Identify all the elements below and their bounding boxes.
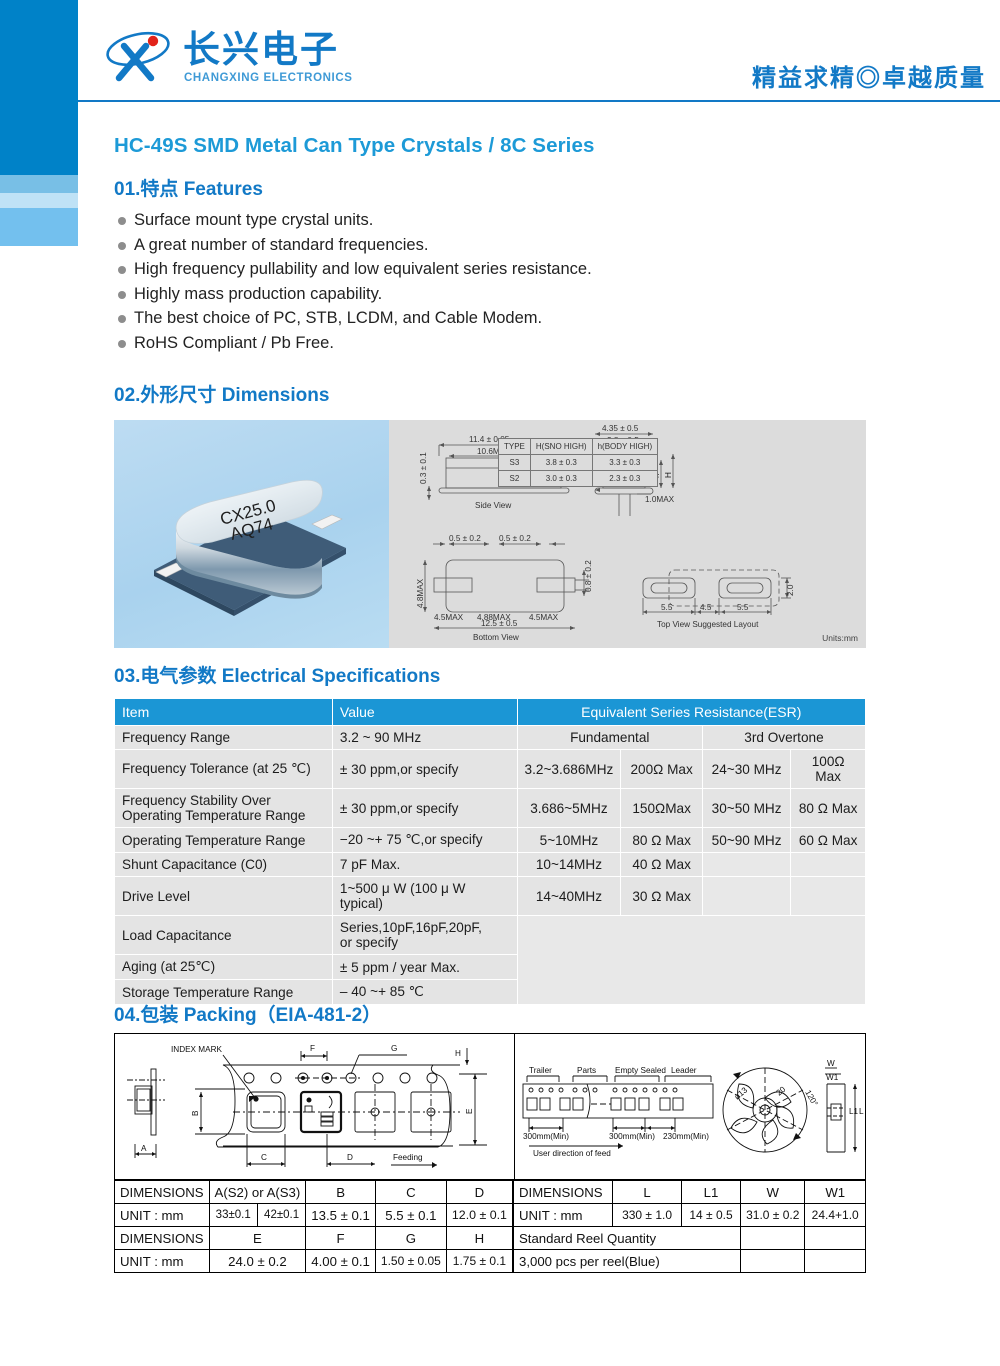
- svg-text:2.0: 2.0: [786, 584, 795, 596]
- svg-text:W1: W1: [826, 1073, 839, 1082]
- spec-item: Frequency Range: [115, 726, 333, 750]
- esr-empty-cell: [702, 877, 790, 916]
- svg-text:Trailer: Trailer: [529, 1066, 552, 1075]
- pk-l-col-g: G: [375, 1227, 446, 1250]
- table-row: UNIT : mm 330 ± 1.0 14 ± 0.5 31.0 ± 0.2 …: [514, 1204, 866, 1227]
- section-heading-electrical: 03.电气参数 Electrical Specifications: [114, 661, 440, 688]
- svg-text:Feeding: Feeding: [393, 1153, 423, 1162]
- col-header-value: Value: [332, 699, 517, 726]
- packing-tape-dimensions-table: DIMENSIONS A(S2) or A(S3) B C D UNIT : m…: [114, 1180, 513, 1273]
- spec-value: Series,10pF,16pF,20pF, or specify: [332, 916, 517, 955]
- table-row: Standard Reel Quantity: [514, 1227, 866, 1250]
- pk-l-val-h: 1.75 ± 0.1: [446, 1250, 512, 1273]
- list-item: Highly mass production capability.: [117, 282, 817, 307]
- pk-l-dimensions-label: DIMENSIONS: [115, 1181, 210, 1204]
- svg-text:E: E: [465, 1108, 474, 1114]
- spec-item: Frequency Tolerance (at 25 ℃): [115, 750, 333, 789]
- crystal-3d-illustration: CX25.0 AQ74: [114, 420, 389, 648]
- esr-ot-res: 100Ω Max: [791, 750, 866, 789]
- type-th-2: h(BODY HIGH): [592, 439, 658, 455]
- esr-empty-cell: [791, 853, 866, 877]
- spec-value: 1~500 μ W (100 μ W typical): [332, 877, 517, 916]
- svg-text:0.5 ± 0.2: 0.5 ± 0.2: [449, 534, 481, 543]
- pk-l-val-e: 24.0 ± 0.2: [209, 1250, 306, 1273]
- svg-text:5.5: 5.5: [737, 603, 749, 612]
- company-name-en: CHANGXING ELECTRONICS: [184, 72, 353, 84]
- sidebar-band-light: [0, 193, 78, 208]
- col-header-item: Item: [115, 699, 333, 726]
- esr-ot-res: 80 Ω Max: [791, 789, 866, 828]
- svg-text:H: H: [664, 472, 673, 478]
- esr-fund-res: 150ΩMax: [621, 789, 703, 828]
- pk-r-empty-3: [741, 1250, 805, 1273]
- type-height-table: TYPE H(SNO HIGH) h(BODY HIGH) S3 3.8 ± 0…: [498, 438, 658, 487]
- pk-l-unit-label: UNIT : mm: [115, 1204, 210, 1227]
- svg-text:300mm(Min): 300mm(Min): [523, 1132, 569, 1141]
- page-header: 长兴电子 CHANGXING ELECTRONICS 精益求精◎卓越质量: [78, 0, 1000, 100]
- list-item: Surface mount type crystal units.: [117, 208, 817, 233]
- table-row: Frequency Range 3.2 ~ 90 MHz Fundamental…: [115, 726, 866, 750]
- sidebar-band-medium: [0, 175, 78, 193]
- table-row: DIMENSIONS A(S2) or A(S3) B C D: [115, 1181, 513, 1204]
- list-item: High frequency pullability and low equiv…: [117, 257, 817, 282]
- esr-fund-res: 30 Ω Max: [621, 877, 703, 916]
- list-item: A great number of standard frequencies.: [117, 233, 817, 258]
- page-title: HC-49S SMD Metal Can Type Crystals / 8C …: [114, 134, 594, 158]
- pk-r-reel-qty-label: Standard Reel Quantity: [514, 1227, 741, 1250]
- esr-fund-res: 40 Ω Max: [621, 853, 703, 877]
- index-mark-label: INDEX MARK: [171, 1045, 222, 1054]
- section-heading-dimensions: 02.外形尺寸 Dimensions: [114, 380, 329, 407]
- pk-l-val-c: 5.5 ± 0.1: [375, 1204, 446, 1227]
- pk-l-col-e: E: [209, 1227, 306, 1250]
- svg-text:300mm(Min): 300mm(Min): [609, 1132, 655, 1141]
- svg-text:4.5: 4.5: [700, 603, 712, 612]
- table-row: DIMENSIONS L L1 W W1: [514, 1181, 866, 1204]
- svg-text:A: A: [141, 1144, 147, 1153]
- features-list: Surface mount type crystal units. A grea…: [117, 208, 817, 356]
- esr-fund-freq: 14~40MHz: [517, 877, 621, 916]
- pk-r-val-w: 31.0 ± 0.2: [741, 1204, 805, 1227]
- packing-reel-dimensions-table: DIMENSIONS L L1 W W1 UNIT : mm 330 ± 1.0…: [513, 1180, 866, 1273]
- svg-text:0.3 ± 0.1: 0.3 ± 0.1: [419, 452, 428, 484]
- list-item: The best choice of PC, STB, LCDM, and Ca…: [117, 306, 817, 331]
- svg-text:B: B: [191, 1110, 200, 1116]
- spec-item: Aging (at 25℃): [115, 955, 333, 980]
- svg-text:D: D: [347, 1153, 353, 1162]
- pk-r-val-w1: 24.4+1.0: [805, 1204, 866, 1227]
- spec-value: ± 5 ppm / year Max.: [332, 955, 517, 980]
- pk-l-val-d: 12.0 ± 0.1: [446, 1204, 512, 1227]
- esr-fund-freq: 3.2~3.686MHz: [517, 750, 621, 789]
- esr-fund-freq: 3.686~5MHz: [517, 789, 621, 828]
- company-logo: 长兴电子 CHANGXING ELECTRONICS: [105, 28, 365, 90]
- esr-ot-freq: 50~90 MHz: [702, 828, 790, 853]
- units-note: Units:mm: [822, 633, 858, 643]
- spec-value: −20 ~+ 75 ℃,or specify: [332, 828, 517, 853]
- pk-l-val-g: 1.50 ± 0.05: [375, 1250, 446, 1273]
- col-header-esr: Equivalent Series Resistance(ESR): [517, 699, 865, 726]
- table-header-row: Item Value Equivalent Series Resistance(…: [115, 699, 866, 726]
- svg-text:H: H: [455, 1049, 461, 1058]
- pk-l-val-b: 13.5 ± 0.1: [306, 1204, 376, 1227]
- pk-l-col-a: A(S2) or A(S3): [209, 1181, 306, 1204]
- spec-value: ± 30 ppm,or specify: [332, 789, 517, 828]
- table-row: UNIT : mm 33±0.1 42±0.1 13.5 ± 0.1 5.5 ±…: [115, 1204, 513, 1227]
- table-row: DIMENSIONS E F G H: [115, 1227, 513, 1250]
- pk-r-val-l: 330 ± 1.0: [613, 1204, 682, 1227]
- svg-text:Side View: Side View: [475, 501, 511, 510]
- pk-l-col-c: C: [375, 1181, 446, 1204]
- svg-text:Parts: Parts: [577, 1066, 596, 1075]
- svg-text:230mm(Min): 230mm(Min): [663, 1132, 709, 1141]
- esr-subheader-fundamental: Fundamental: [517, 726, 702, 750]
- header-divider: [78, 100, 1000, 102]
- sidebar-band-medium-light: [0, 208, 78, 246]
- list-item: RoHS Compliant / Pb Free.: [117, 331, 817, 356]
- spec-item: Drive Level: [115, 877, 333, 916]
- svg-text:0.5 ± 0.2: 0.5 ± 0.2: [499, 534, 531, 543]
- svg-text:4.35 ± 0.5: 4.35 ± 0.5: [602, 424, 639, 433]
- pk-l-col-f: F: [306, 1227, 376, 1250]
- svg-text:Leader: Leader: [671, 1066, 697, 1075]
- pk-r-col-l1: L1: [681, 1181, 740, 1204]
- esr-empty-cell: [702, 853, 790, 877]
- svg-text:4.8MAX: 4.8MAX: [416, 578, 425, 608]
- svg-text:4.5MAX: 4.5MAX: [434, 613, 464, 622]
- electrical-specifications-table: Item Value Equivalent Series Resistance(…: [114, 698, 866, 1005]
- dimensions-figure: CX25.0 AQ74 11.4 ± 0.05: [114, 420, 866, 648]
- pk-l-val-a-s3: 42±0.1: [257, 1204, 305, 1227]
- table-row: UNIT : mm 24.0 ± 0.2 4.00 ± 0.1 1.50 ± 0…: [115, 1250, 513, 1273]
- svg-text:5.5: 5.5: [661, 603, 673, 612]
- svg-text:F: F: [310, 1044, 315, 1053]
- company-name-cn: 长兴电子: [183, 28, 339, 72]
- table-row: Load Capacitance Series,10pF,16pF,20pF, …: [115, 916, 866, 955]
- table-row: Frequency Tolerance (at 25 ℃) ± 30 ppm,o…: [115, 750, 866, 789]
- section-heading-features: 01.特点 Features: [114, 174, 263, 201]
- esr-fund-res: 80 Ω Max: [621, 828, 703, 853]
- spec-value: ± 30 ppm,or specify: [332, 750, 517, 789]
- pk-r-empty-2: [805, 1227, 866, 1250]
- table-row: S2 3.0 ± 0.3 2.3 ± 0.3: [499, 471, 658, 487]
- top-view-layout-drawing: 2.0 5.5 4.5 5.5: [643, 570, 795, 629]
- spec-value: 7 pF Max.: [332, 853, 517, 877]
- pk-l-val-a-s2: 33±0.1: [209, 1204, 257, 1227]
- svg-text:Bottom View: Bottom View: [473, 633, 519, 642]
- pk-l-col-h: H: [446, 1227, 512, 1250]
- spec-item: Operating Temperature Range: [115, 828, 333, 853]
- svg-text:ø13: ø13: [733, 1085, 750, 1101]
- esr-ot-res: 60 Ω Max: [791, 828, 866, 853]
- esr-fund-res: 200Ω Max: [621, 750, 703, 789]
- esr-ot-freq: 24~30 MHz: [702, 750, 790, 789]
- spec-item: Shunt Capacitance (C0): [115, 853, 333, 877]
- svg-text:12.5 ± 0.5: 12.5 ± 0.5: [481, 619, 518, 628]
- svg-text:1.0MAX: 1.0MAX: [645, 495, 675, 504]
- bottom-view-drawing: 0.5 ± 0.2 0.5 ± 0.2 4.8MAX: [416, 534, 593, 642]
- esr-empty-cell: [791, 877, 866, 916]
- pk-r-val-l1: 14 ± 0.5: [681, 1204, 740, 1227]
- esr-subheader-overtone: 3rd Overtone: [702, 726, 865, 750]
- tape-carrier-drawing: A: [115, 1034, 514, 1179]
- table-row: S3 3.8 ± 0.3 3.3 ± 0.3: [499, 455, 658, 471]
- pk-r-dimensions-label: DIMENSIONS: [514, 1181, 613, 1204]
- table-row: Drive Level 1~500 μ W (100 μ W typical) …: [115, 877, 866, 916]
- section-heading-packing: 04.包装 Packing（EIA-481-2）: [114, 1000, 381, 1027]
- esr-fund-freq: 5~10MHz: [517, 828, 621, 853]
- spec-item: Frequency Stability Over Operating Tempe…: [115, 789, 333, 828]
- table-row: TYPE H(SNO HIGH) h(BODY HIGH): [499, 439, 658, 455]
- cx-logo-icon: [105, 30, 177, 82]
- pk-r-col-l: L: [613, 1181, 682, 1204]
- header-tagline: 精益求精◎卓越质量: [752, 58, 986, 93]
- reel-packing-drawing: Trailer Parts Empty Sealed Leader 300mm(…: [515, 1034, 866, 1179]
- pk-l-col-b: B: [306, 1181, 376, 1204]
- pk-l-dimensions-label-2: DIMENSIONS: [115, 1227, 210, 1250]
- svg-text:Empty Sealed: Empty Sealed: [615, 1066, 666, 1075]
- pk-l-val-f: 4.00 ± 0.1: [306, 1250, 376, 1273]
- pk-r-col-w: W: [741, 1181, 805, 1204]
- spec-item: Load Capacitance: [115, 916, 333, 955]
- svg-text:G: G: [391, 1044, 397, 1053]
- svg-text:4.5MAX: 4.5MAX: [529, 613, 559, 622]
- type-th-0: TYPE: [499, 439, 531, 455]
- esr-ot-freq: 30~50 MHz: [702, 789, 790, 828]
- pk-r-col-w1: W1: [805, 1181, 866, 1204]
- spec-value: 3.2 ~ 90 MHz: [332, 726, 517, 750]
- svg-text:L: L: [859, 1107, 864, 1116]
- esr-empty-block: [517, 916, 865, 1005]
- datasheet-page: 长兴电子 CHANGXING ELECTRONICS 精益求精◎卓越质量 HC-…: [0, 0, 1000, 1366]
- type-th-1: H(SNO HIGH): [530, 439, 592, 455]
- svg-text:W: W: [827, 1059, 835, 1068]
- table-row: Operating Temperature Range −20 ~+ 75 ℃,…: [115, 828, 866, 853]
- svg-text:0.8 ± 0.2: 0.8 ± 0.2: [584, 560, 593, 592]
- table-row: 3,000 pcs per reel(Blue): [514, 1250, 866, 1273]
- pk-r-unit-label: UNIT : mm: [514, 1204, 613, 1227]
- svg-text:C: C: [261, 1153, 267, 1162]
- svg-text:User direction of feed: User direction of feed: [533, 1149, 611, 1158]
- pk-l-unit-label-2: UNIT : mm: [115, 1250, 210, 1273]
- table-row: Shunt Capacitance (C0) 7 pF Max. 10~14MH…: [115, 853, 866, 877]
- pk-r-empty-4: [805, 1250, 866, 1273]
- svg-text:Top View Suggested Layout: Top View Suggested Layout: [657, 620, 759, 629]
- pk-r-reel-qty-value: 3,000 pcs per reel(Blue): [514, 1250, 741, 1273]
- svg-text:L1: L1: [849, 1107, 859, 1116]
- pk-r-empty-1: [741, 1227, 805, 1250]
- sidebar-band-dark: [0, 0, 78, 175]
- pk-l-col-d: D: [446, 1181, 512, 1204]
- packing-figure: A: [114, 1033, 866, 1180]
- esr-fund-freq: 10~14MHz: [517, 853, 621, 877]
- table-row: Frequency Stability Over Operating Tempe…: [115, 789, 866, 828]
- product-photo: CX25.0 AQ74: [114, 420, 389, 648]
